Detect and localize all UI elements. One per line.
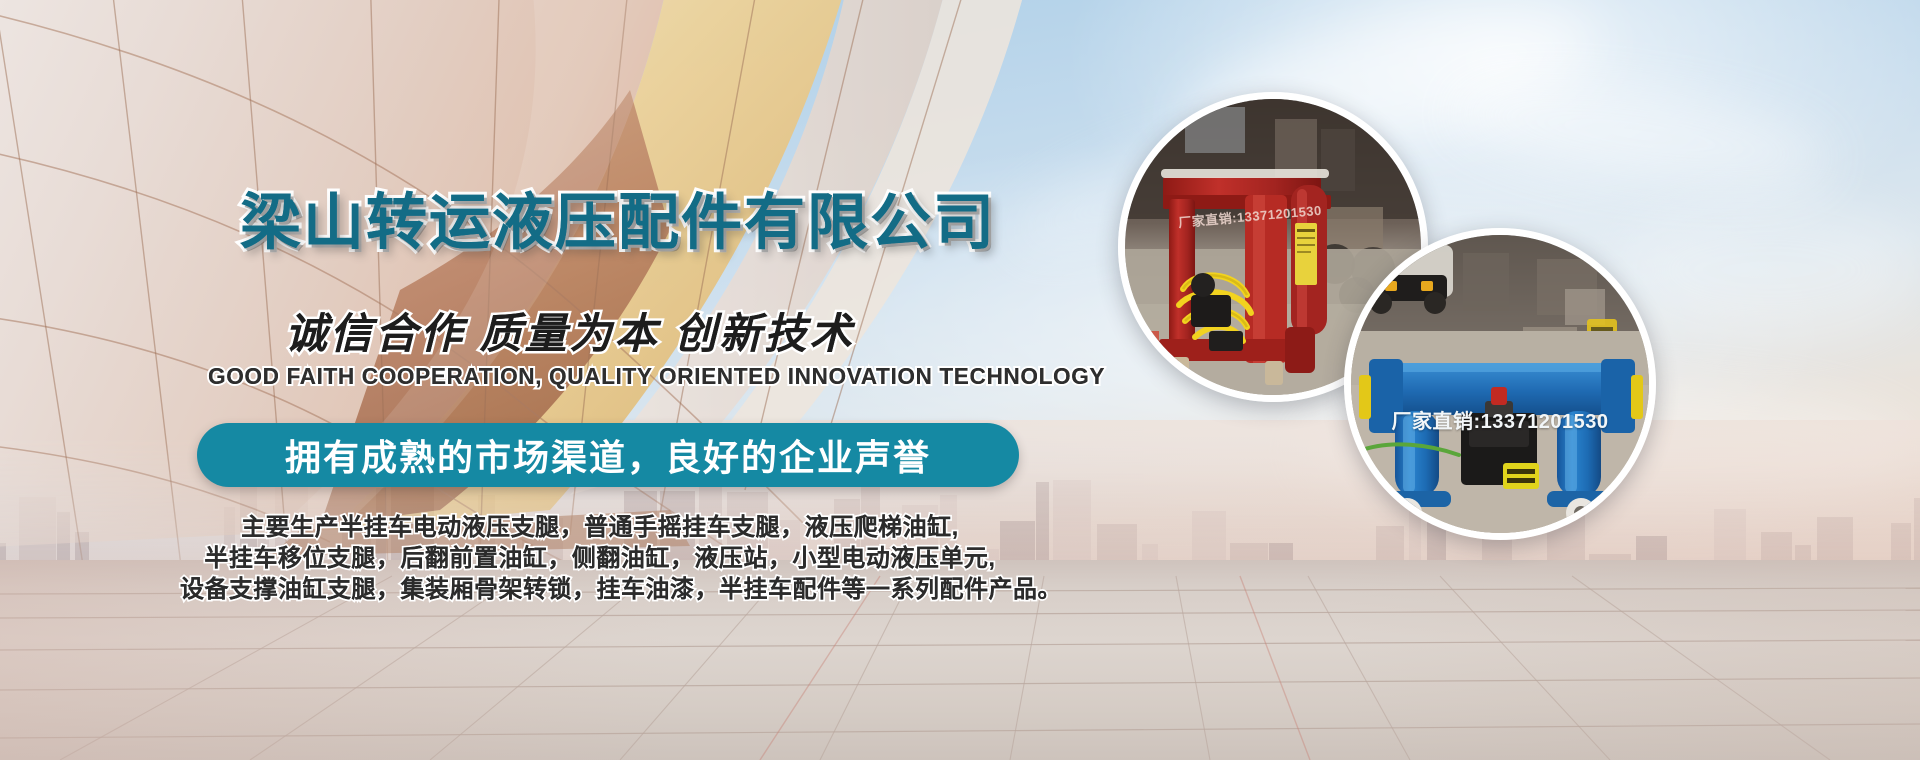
blue-machine-illustration — [1351, 235, 1649, 533]
description-line: 半挂车移位支腿，后翻前置油缸，侧翻油缸，液压站，小型电动液压单元, — [180, 543, 1020, 574]
blue-machine-phone-label: 厂家直销:13371201530 — [1351, 405, 1649, 434]
slogan-cn: 诚信合作 质量为本 创新技术 — [285, 300, 854, 361]
description-line: 设备支撑油缸支腿，集装厢骨架转锁，挂车油漆，半挂车配件等一系列配件产品。 — [180, 574, 1020, 605]
cloud-shape — [1446, 64, 1835, 206]
headline-text-group: 梁山转运液压配件有限公司 梁山转运液压配件有限公司 诚信合作 质量为本 创新技术… — [0, 0, 1060, 760]
product-photo-blue[interactable]: 厂家直销:13371201530 — [1344, 228, 1656, 540]
promo-banner: 厂家直销:13371201530 — [0, 0, 1920, 760]
highlight-pill-text: 拥有成熟的市场渠道，良好的企业声誉 — [197, 423, 1019, 487]
description-line: 主要生产半挂车电动液压支腿，普通手摇挂车支腿，液压爬梯油缸, — [180, 512, 1020, 543]
slogan-en: GOOD FAITH COOPERATION, QUALITY ORIENTED… — [208, 363, 1105, 390]
company-title: 梁山转运液压配件有限公司 — [240, 172, 996, 261]
description-paragraph: 主要生产半挂车电动液压支腿，普通手摇挂车支腿，液压爬梯油缸, 半挂车移位支腿，后… — [180, 512, 1020, 605]
highlight-pill: 拥有成熟的市场渠道，良好的企业声誉 — [197, 423, 1019, 487]
cloud-shape — [1620, 200, 1920, 340]
